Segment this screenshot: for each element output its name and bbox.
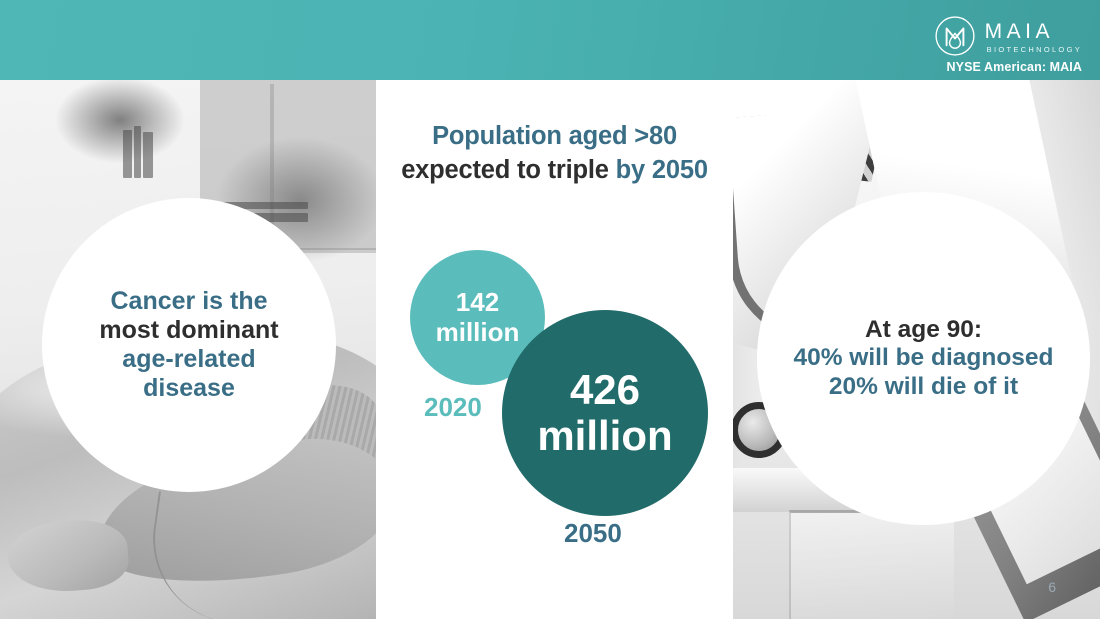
year-label-2050: 2050 <box>564 518 622 549</box>
left-photo-panel: Cancer is the most dominant age-related … <box>0 80 376 619</box>
left-statement-bubble: Cancer is the most dominant age-related … <box>42 198 336 492</box>
header-bar: MAIA BIOTECHNOLOGY NYSE American: MAIA <box>0 0 1100 80</box>
bubble-line: 40% will be diagnosed <box>793 344 1053 373</box>
year-label-2020: 2020 <box>424 392 482 423</box>
bubble-2020-value: 142million <box>436 288 520 346</box>
page-number: 6 <box>1048 579 1056 595</box>
bubble-2050-value: 426million <box>537 367 672 459</box>
bubble-line: age-related <box>122 345 255 374</box>
brand-lockup: MAIA BIOTECHNOLOGY <box>934 15 1082 57</box>
bubble-line: disease <box>143 374 235 403</box>
right-photo-panel: At age 90: 40% will be diagnosed 20% wil… <box>733 80 1100 619</box>
bubble-line: Cancer is the <box>110 287 267 316</box>
book-shape <box>123 130 132 178</box>
book-shape <box>134 126 141 178</box>
bubble-line: most dominant <box>99 316 278 345</box>
brand-name: MAIA <box>985 21 1082 42</box>
population-bubble-chart: 2020 142million 426million 2050 <box>376 80 733 619</box>
bubble-line: 20% will die of it <box>829 373 1018 402</box>
slide: MAIA BIOTECHNOLOGY NYSE American: MAIA C… <box>0 0 1100 619</box>
right-statement-bubble: At age 90: 40% will be diagnosed 20% wil… <box>757 192 1090 525</box>
brand-wordmark: MAIA BIOTECHNOLOGY <box>985 19 1082 54</box>
bubble-2050: 426million <box>502 310 708 516</box>
maia-monogram-icon <box>934 15 976 57</box>
brand-subtitle: BIOTECHNOLOGY <box>987 46 1082 54</box>
book-shape <box>143 132 153 178</box>
stock-ticker-label: NYSE American: MAIA <box>947 60 1083 74</box>
coat-pocket-shape <box>789 510 954 619</box>
bubble-line: At age 90: <box>865 316 982 345</box>
